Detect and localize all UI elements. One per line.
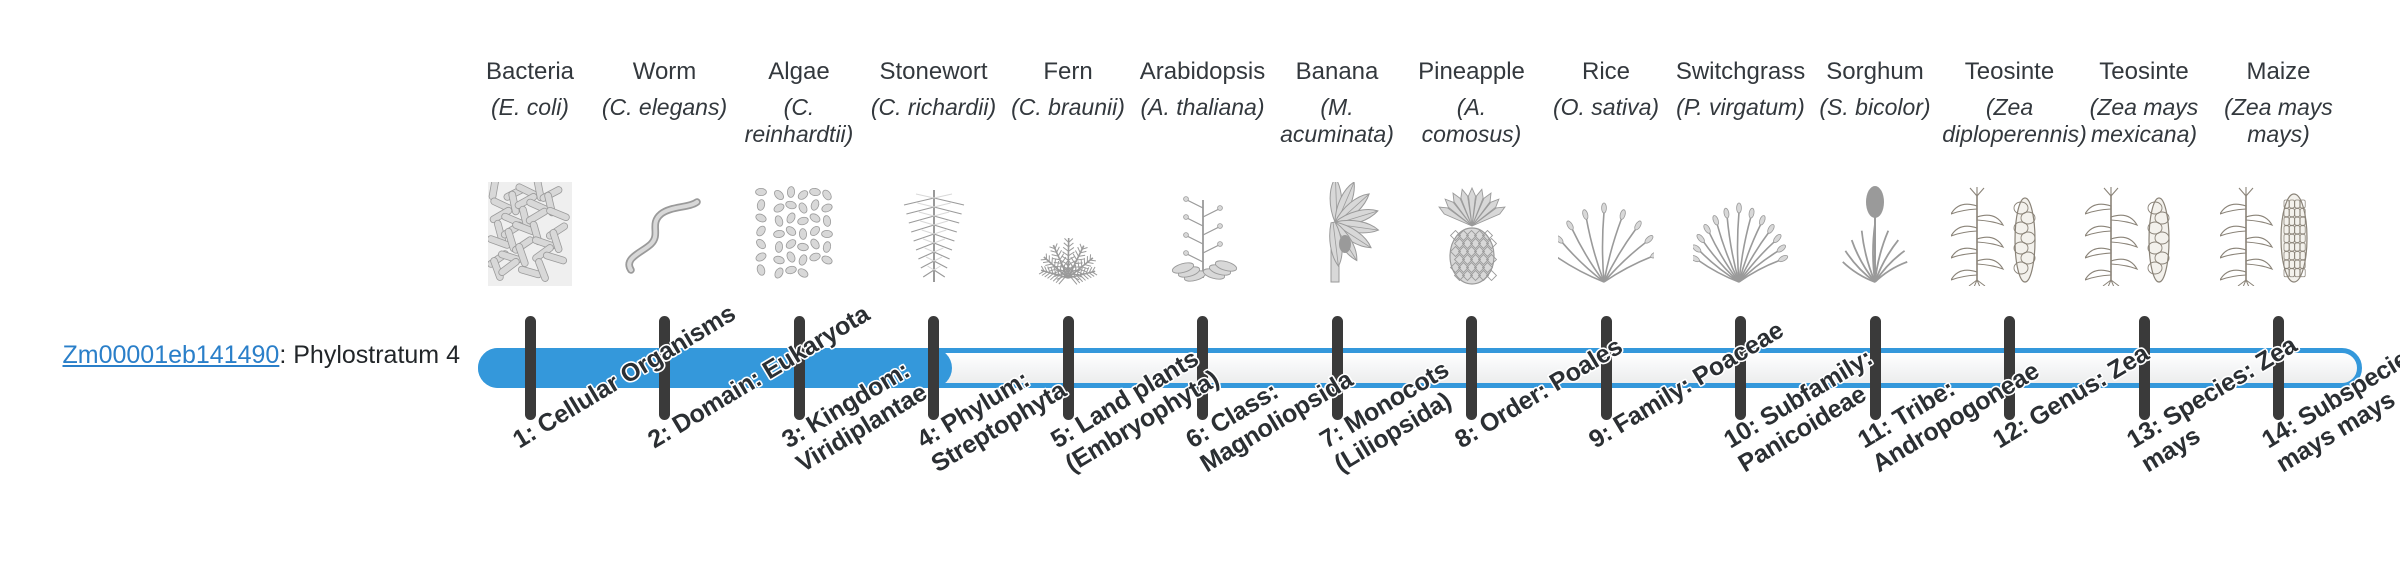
phylostratum-value: Phylostratum 4: [293, 341, 460, 369]
rice-illustration: [1539, 166, 1674, 286]
species-common-name: Switchgrass: [1673, 58, 1808, 86]
gene-id-link[interactable]: Zm00001eb141490: [62, 341, 279, 369]
species-common-name: Maize: [2211, 58, 2346, 86]
species-scientific-name: (A. comosus): [1404, 94, 1539, 147]
species-common-name: Worm: [597, 58, 732, 86]
species-column: Pineapple (A. comosus): [1404, 0, 1539, 300]
species-scientific-name: (A. thaliana): [1135, 94, 1270, 121]
rank-labels: 1: Cellular Organisms2: Domain: Eukaryot…: [478, 430, 2362, 580]
species-scientific-name: (O. sativa): [1539, 94, 1674, 121]
species-column: Bacteria (E. coli): [463, 0, 598, 300]
species-common-name: Pineapple: [1404, 58, 1539, 86]
species-scientific-name: (Zea diploperennis): [1942, 94, 2077, 147]
species-column: Banana (M. acuminata): [1270, 0, 1405, 300]
worm-illustration: [597, 166, 732, 286]
banana-illustration: [1270, 166, 1405, 286]
gene-phylostratum-label: Zm00001eb141490: Phylostratum 4: [0, 340, 460, 370]
species-column: Rice (O. sativa): [1539, 0, 1674, 300]
species-scientific-name: (C. braunii): [1001, 94, 1136, 121]
species-column: Switchgrass (P. virgatum): [1673, 0, 1808, 300]
species-common-name: Teosinte: [1942, 58, 2077, 86]
species-common-name: Stonewort: [866, 58, 1001, 86]
bacteria-illustration: [463, 166, 598, 286]
species-scientific-name: (C. reinhardtii): [732, 94, 867, 147]
species-scientific-name: (C. elegans): [597, 94, 732, 121]
species-scientific-name: (M. acuminata): [1270, 94, 1405, 147]
species-column: Fern (C. braunii): [1001, 0, 1136, 300]
species-scientific-name: (E. coli): [463, 94, 598, 121]
species-common-name: Algae: [732, 58, 867, 86]
species-scientific-name: (C. richardii): [866, 94, 1001, 121]
fern-illustration: [1001, 166, 1136, 286]
gene-label-separator: :: [279, 341, 293, 369]
species-column: Teosinte (Zea diploperennis): [1942, 0, 2077, 300]
species-common-name: Arabidopsis: [1135, 58, 1270, 86]
species-column: Sorghum (S. bicolor): [1808, 0, 1943, 300]
species-common-name: Bacteria: [463, 58, 598, 86]
species-common-name: Rice: [1539, 58, 1674, 86]
maize-illustration: [2211, 166, 2346, 286]
species-column: Worm (C. elegans): [597, 0, 732, 300]
species-scientific-name: (S. bicolor): [1808, 94, 1943, 121]
switchgrass-illustration: [1673, 166, 1808, 286]
species-common-name: Sorghum: [1808, 58, 1943, 86]
species-scientific-name: (Zea mays mexicana): [2077, 94, 2212, 147]
stonewort-illustration: [866, 166, 1001, 286]
algae-illustration: [732, 166, 867, 286]
species-column: Arabidopsis (A. thaliana): [1135, 0, 1270, 300]
species-common-name: Teosinte: [2077, 58, 2212, 86]
sorghum-illustration: [1808, 166, 1943, 286]
teosinte-illustration: [1942, 166, 2077, 286]
species-scientific-name: (Zea mays mays): [2211, 94, 2346, 147]
species-common-name: Banana: [1270, 58, 1405, 86]
species-column: Teosinte (Zea mays mexicana): [2077, 0, 2212, 300]
species-scientific-name: (P. virgatum): [1673, 94, 1808, 121]
species-column: Maize (Zea mays mays): [2211, 0, 2346, 300]
teosinte-illustration: [2077, 166, 2212, 286]
species-common-name: Fern: [1001, 58, 1136, 86]
arabidopsis-illustration: [1135, 166, 1270, 286]
pineapple-illustration: [1404, 166, 1539, 286]
species-column: Stonewort (C. richardii): [866, 0, 1001, 300]
species-column: Algae (C. reinhardtii): [732, 0, 867, 300]
phylostratum-timeline: Zm00001eb141490: Phylostratum 4 Bacteria…: [0, 0, 2400, 580]
